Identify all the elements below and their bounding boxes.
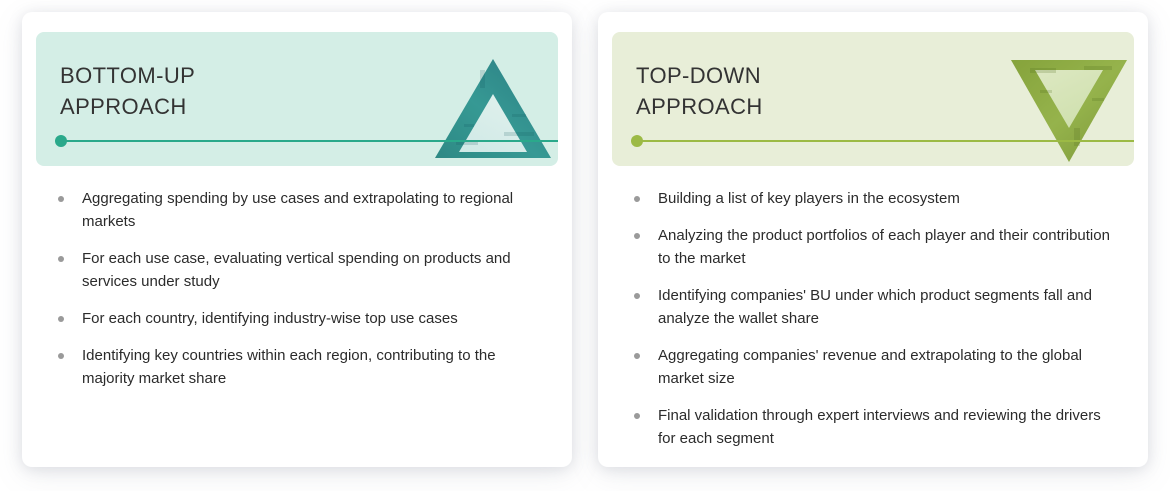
list-item: Aggregating companies' revenue and extra… [628, 345, 1120, 391]
bullet-dot-icon [58, 316, 64, 322]
list-item: For each use case, evaluating vertical s… [52, 248, 544, 294]
triangle-up-icon [434, 54, 552, 166]
card-body-bottom-up: Aggregating spending by use cases and ex… [22, 180, 572, 467]
bullet-dot-icon [634, 353, 640, 359]
list-item-text: Identifying companies' BU under which pr… [658, 287, 1092, 327]
card-header-bottom-up: BOTTOM-UP APPROACH [36, 32, 558, 166]
header-rule-top-down [636, 140, 1134, 142]
list-item: Aggregating spending by use cases and ex… [52, 188, 544, 234]
list-item: For each country, identifying industry-w… [52, 308, 544, 331]
card-top-down: TOP-DOWN APPROACH [598, 12, 1148, 467]
list-item: Identifying companies' BU under which pr… [628, 285, 1120, 331]
header-rule-dot [55, 135, 67, 147]
header-rule-dot [631, 135, 643, 147]
list-item-text: Aggregating companies' revenue and extra… [658, 347, 1082, 387]
list-item-text: Identifying key countries within each re… [82, 347, 496, 387]
bullet-list-top-down: Building a list of key players in the ec… [628, 188, 1120, 450]
list-item-text: For each use case, evaluating vertical s… [82, 250, 511, 290]
list-item: Identifying key countries within each re… [52, 345, 544, 391]
list-item: Analyzing the product portfolios of each… [628, 225, 1120, 271]
bullet-dot-icon [634, 233, 640, 239]
bullet-list-bottom-up: Aggregating spending by use cases and ex… [52, 188, 544, 391]
list-item-text: Analyzing the product portfolios of each… [658, 227, 1110, 267]
card-title-top-down: TOP-DOWN APPROACH [636, 60, 763, 122]
list-item-text: For each country, identifying industry-w… [82, 310, 458, 327]
card-title-bottom-up: BOTTOM-UP APPROACH [60, 60, 195, 122]
list-item-text: Aggregating spending by use cases and ex… [82, 190, 513, 230]
card-bottom-up: BOTTOM-UP APPROACH [22, 12, 572, 467]
bullet-dot-icon [58, 196, 64, 202]
triangle-down-icon [1010, 54, 1128, 166]
card-body-top-down: Building a list of key players in the ec… [598, 180, 1148, 467]
card-header-top-down: TOP-DOWN APPROACH [612, 32, 1134, 166]
list-item-text: Final validation through expert intervie… [658, 407, 1101, 447]
header-rule-bottom-up [60, 140, 558, 142]
list-item: Final validation through expert intervie… [628, 405, 1120, 451]
bullet-dot-icon [634, 196, 640, 202]
bullet-dot-icon [58, 256, 64, 262]
slide-canvas: BOTTOM-UP APPROACH [0, 0, 1170, 491]
bullet-dot-icon [634, 413, 640, 419]
list-item: Building a list of key players in the ec… [628, 188, 1120, 211]
bullet-dot-icon [58, 353, 64, 359]
bullet-dot-icon [634, 293, 640, 299]
list-item-text: Building a list of key players in the ec… [658, 190, 960, 207]
